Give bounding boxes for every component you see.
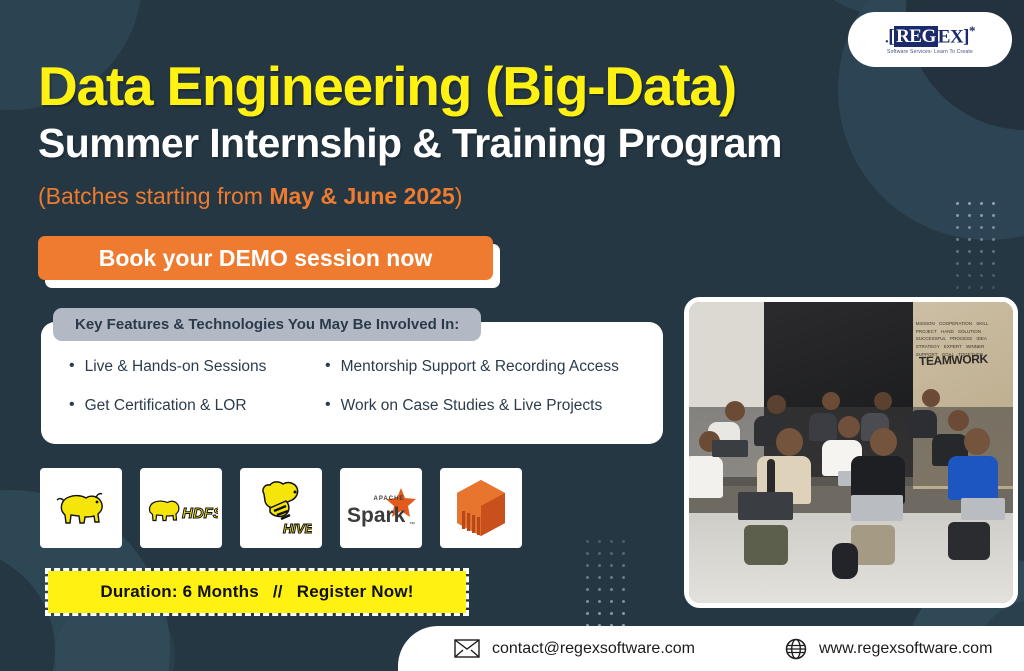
decor-dot xyxy=(622,576,625,579)
decor-dot xyxy=(968,214,971,217)
list-item: •Mentorship Support & Recording Access xyxy=(325,358,663,376)
decor-dot xyxy=(956,274,959,277)
logo-star: * xyxy=(969,23,975,38)
aws-cube-logo xyxy=(440,468,522,548)
decor-dot xyxy=(992,262,995,265)
decor-dot xyxy=(980,214,983,217)
svg-text:™: ™ xyxy=(409,521,415,528)
decor-dot xyxy=(586,576,589,579)
bullet-icon: • xyxy=(69,358,75,375)
decor-dot xyxy=(956,238,959,241)
decor-dot xyxy=(968,286,971,289)
feature-label: Mentorship Support & Recording Access xyxy=(341,358,619,376)
decor-dot xyxy=(598,540,601,543)
list-item: •Get Certification & LOR xyxy=(69,397,325,415)
decor-dot xyxy=(586,552,589,555)
decor-dot xyxy=(980,274,983,277)
logo-ex-text: EX xyxy=(938,26,963,47)
contact-footer: contact@regexsoftware.com www.regexsoftw… xyxy=(398,626,1024,671)
decor-dot xyxy=(980,286,983,289)
decor-dot xyxy=(956,286,959,289)
regex-logo[interactable]: .[REGEX]* Software Services- Learn To Cr… xyxy=(848,12,1012,67)
batches-suffix: ) xyxy=(455,183,463,209)
list-item: •Work on Case Studies & Live Projects xyxy=(325,397,663,415)
headline-primary: Data Engineering (Big-Data) xyxy=(38,58,782,114)
decor-dot-grid-right xyxy=(956,202,995,289)
contact-website[interactable]: www.regexsoftware.com xyxy=(785,638,992,660)
decor-dot xyxy=(598,552,601,555)
decor-dot xyxy=(992,250,995,253)
decor-dot xyxy=(598,576,601,579)
decor-dot xyxy=(992,286,995,289)
cta-container: Book your DEMO session now xyxy=(38,236,493,280)
decor-dot xyxy=(992,202,995,205)
decor-dot xyxy=(992,226,995,229)
bullet-icon: • xyxy=(69,397,75,414)
decor-dot xyxy=(610,552,613,555)
decor-dot xyxy=(610,540,613,543)
decor-dot xyxy=(956,226,959,229)
features-list: •Live & Hands-on Sessions •Mentorship Su… xyxy=(41,358,663,415)
decor-dot xyxy=(968,274,971,277)
decor-dot xyxy=(598,612,601,615)
logo-tagline: Software Services- Learn To Create xyxy=(887,49,973,55)
decor-dot xyxy=(586,600,589,603)
decor-dot xyxy=(610,588,613,591)
logo-reg-text: REG xyxy=(894,26,938,47)
logo-wordmark: .[REGEX]* xyxy=(885,24,975,46)
batches-note: (Batches starting from May & June 2025) xyxy=(38,183,462,210)
decor-dot xyxy=(968,250,971,253)
feature-label: Work on Case Studies & Live Projects xyxy=(341,397,603,415)
decor-dot xyxy=(980,238,983,241)
envelope-icon xyxy=(454,639,480,658)
decor-dot xyxy=(980,262,983,265)
decor-dot xyxy=(968,202,971,205)
globe-icon xyxy=(785,638,807,660)
decor-dot xyxy=(622,540,625,543)
decor-dot xyxy=(598,588,601,591)
list-item: •Live & Hands-on Sessions xyxy=(69,358,325,376)
svg-text:Spark: Spark xyxy=(347,504,406,527)
classroom-photo: MISSION COOPERATION SKILL PROJECT HAND S… xyxy=(684,297,1018,608)
decor-dot xyxy=(586,612,589,615)
decor-dot xyxy=(956,214,959,217)
duration-text: Duration: 6 Months xyxy=(100,582,258,602)
register-now-label: Register Now! xyxy=(297,582,414,602)
photo-teamwork-text: TEAMWORK xyxy=(919,352,988,368)
hdfs-logo: HDFS xyxy=(140,468,222,548)
decor-dot xyxy=(992,238,995,241)
decor-dot xyxy=(622,612,625,615)
technology-logos: HDFS HIVE APACHE Spark ™ xyxy=(40,468,522,548)
feature-label: Get Certification & LOR xyxy=(85,397,247,415)
decor-dot xyxy=(968,226,971,229)
decor-dot xyxy=(622,588,625,591)
website-address: www.regexsoftware.com xyxy=(819,640,992,658)
svg-text:APACHE: APACHE xyxy=(374,496,405,502)
features-heading: Key Features & Technologies You May Be I… xyxy=(53,308,481,341)
book-demo-button[interactable]: Book your DEMO session now xyxy=(38,236,493,280)
decor-dot xyxy=(610,564,613,567)
decor-dot xyxy=(586,540,589,543)
photo-content: MISSION COOPERATION SKILL PROJECT HAND S… xyxy=(689,302,1013,603)
duration-separator: // xyxy=(273,582,283,602)
spark-logo: APACHE Spark ™ xyxy=(340,468,422,548)
decor-dot xyxy=(956,202,959,205)
decor-dot xyxy=(992,274,995,277)
decor-dot xyxy=(598,564,601,567)
svg-text:HIVE: HIVE xyxy=(283,521,312,536)
decor-dot xyxy=(980,250,983,253)
decor-dot xyxy=(586,564,589,567)
decor-dot xyxy=(622,600,625,603)
decor-dot xyxy=(610,600,613,603)
decor-dot xyxy=(610,612,613,615)
duration-banner[interactable]: Duration: 6 Months // Register Now! xyxy=(48,571,466,613)
batches-prefix: (Batches starting from xyxy=(38,183,269,209)
batches-dates: May & June 2025 xyxy=(269,183,454,209)
feature-label: Live & Hands-on Sessions xyxy=(85,358,267,376)
svg-text:HDFS: HDFS xyxy=(182,505,218,522)
email-address: contact@regexsoftware.com xyxy=(492,640,695,658)
decor-dot xyxy=(622,552,625,555)
decor-dot xyxy=(956,250,959,253)
decor-dot xyxy=(586,588,589,591)
bullet-icon: • xyxy=(325,358,331,375)
hive-logo: HIVE xyxy=(240,468,322,548)
decor-dot xyxy=(992,214,995,217)
headline-secondary: Summer Internship & Training Program xyxy=(38,120,782,167)
decor-dot xyxy=(968,262,971,265)
bullet-icon: • xyxy=(325,397,331,414)
decor-dot xyxy=(980,226,983,229)
decor-dot xyxy=(968,238,971,241)
decor-dot xyxy=(622,564,625,567)
decor-dot-grid-middle xyxy=(586,540,625,627)
page-title: Data Engineering (Big-Data) Summer Inter… xyxy=(38,58,782,167)
contact-email[interactable]: contact@regexsoftware.com xyxy=(454,639,695,658)
decor-dot xyxy=(980,202,983,205)
hadoop-logo xyxy=(40,468,122,548)
decor-dot xyxy=(956,262,959,265)
decor-dot xyxy=(598,600,601,603)
decor-dot xyxy=(610,576,613,579)
